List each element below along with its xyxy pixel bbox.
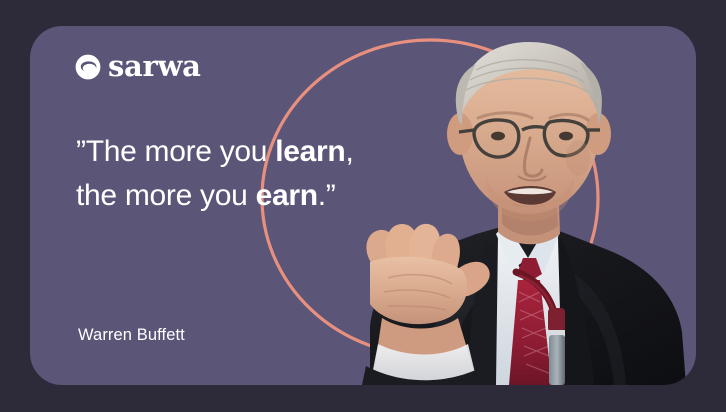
sarwa-swirl-icon bbox=[75, 54, 101, 80]
brand-wordmark: sarwa bbox=[108, 52, 201, 81]
quote-card: sarwa ”The more you learn, the more you … bbox=[30, 26, 696, 385]
quote-emphasis-earn: earn bbox=[256, 179, 318, 212]
screenshot-root: sarwa ”The more you learn, the more you … bbox=[0, 0, 726, 412]
portrait-image bbox=[326, 26, 696, 385]
quote-line-1: The more you bbox=[86, 135, 267, 168]
quote-text: ”The more you learn, the more you earn.” bbox=[76, 130, 376, 219]
quote-attribution: Warren Buffett bbox=[78, 326, 185, 345]
close-quote-mark: ” bbox=[326, 179, 336, 212]
quote-emphasis-learn: learn bbox=[275, 135, 345, 168]
quote-period: . bbox=[318, 179, 326, 212]
quote-line-3: you bbox=[200, 179, 256, 212]
brand-logo[interactable]: sarwa bbox=[75, 52, 201, 81]
quote-block: ”The more you learn, the more you earn.” bbox=[76, 130, 376, 219]
open-quote-mark: ” bbox=[76, 135, 86, 168]
